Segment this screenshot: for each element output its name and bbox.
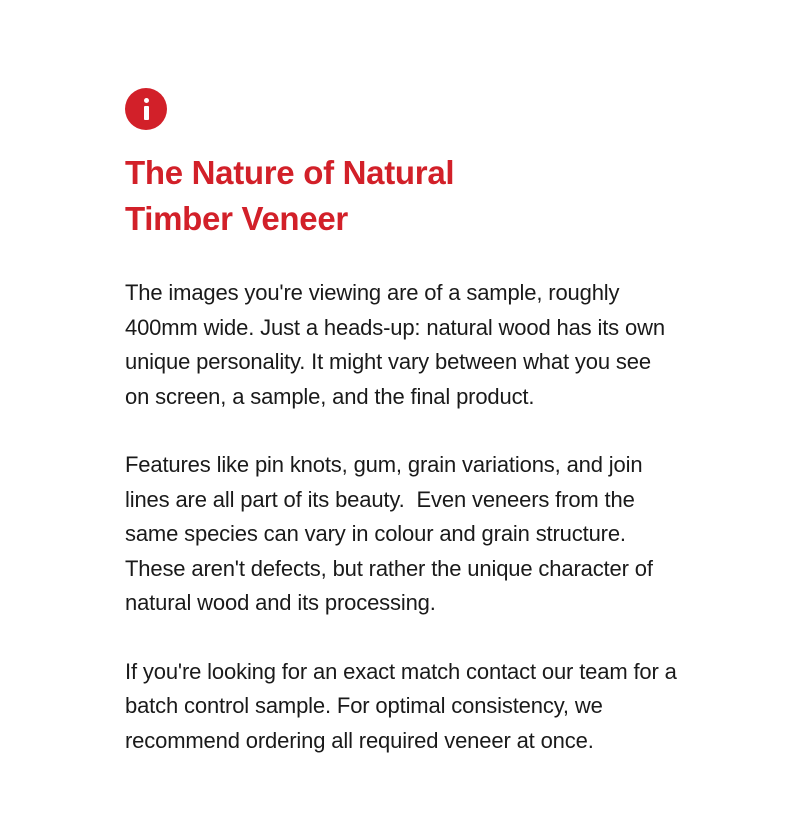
info-icon-dot — [144, 98, 149, 103]
panel-body: The images you're viewing are of a sampl… — [125, 276, 685, 758]
info-icon — [125, 88, 167, 130]
page-title: The Nature of Natural Timber Veneer — [125, 150, 525, 242]
paragraph-3: If you're looking for an exact match con… — [125, 655, 681, 759]
info-panel: The Nature of Natural Timber Veneer The … — [125, 88, 685, 758]
info-icon-stem — [144, 106, 149, 120]
info-icon-row — [125, 88, 685, 132]
paragraph-1: The images you're viewing are of a sampl… — [125, 276, 681, 414]
paragraph-2: Features like pin knots, gum, grain vari… — [125, 448, 681, 621]
